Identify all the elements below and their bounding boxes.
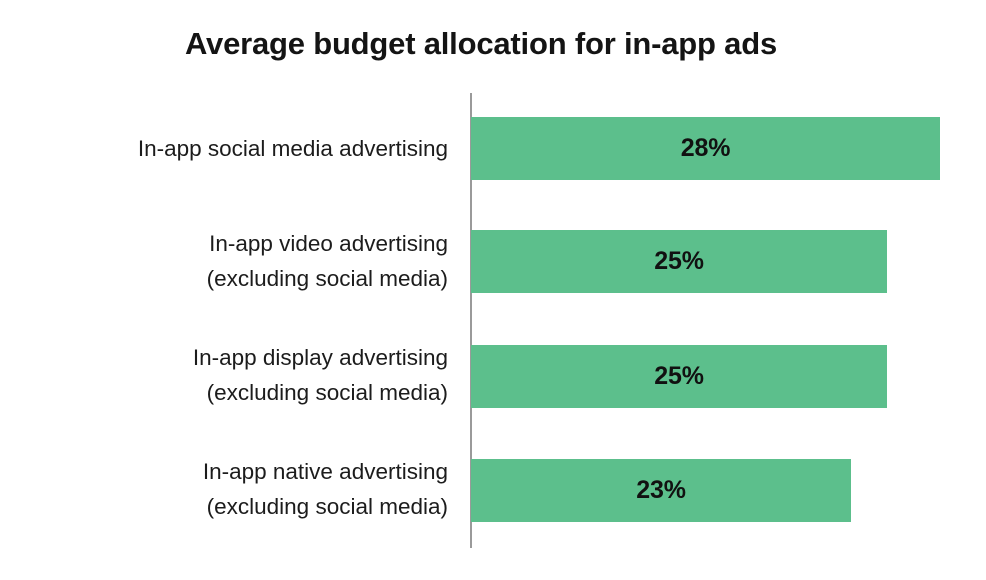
bar: 25%: [471, 230, 887, 293]
plot-area: In-app social media advertising 28% In-a…: [0, 0, 986, 580]
category-label: In-app video advertising (excluding soci…: [207, 226, 448, 296]
category-label-line2: (excluding social media): [203, 489, 448, 524]
bar: 23%: [471, 459, 851, 522]
category-label-line2: (excluding social media): [207, 261, 448, 296]
bar-value-label: 25%: [471, 345, 887, 408]
category-label: In-app social media advertising: [138, 131, 448, 166]
category-label: In-app native advertising (excluding soc…: [203, 454, 448, 524]
bar: 25%: [471, 345, 887, 408]
bar-value-label: 25%: [471, 230, 887, 293]
bar-value-label: 28%: [471, 117, 940, 180]
category-label-line1: In-app native advertising: [203, 459, 448, 484]
category-label-line1: In-app display advertising: [193, 345, 448, 370]
category-label-line1: In-app social media advertising: [138, 136, 448, 161]
bar: 28%: [471, 117, 940, 180]
category-label-line2: (excluding social media): [193, 375, 448, 410]
bar-chart: Average budget allocation for in-app ads…: [0, 0, 986, 580]
bar-value-label: 23%: [471, 459, 851, 522]
category-label-line1: In-app video advertising: [209, 231, 448, 256]
category-label: In-app display advertising (excluding so…: [193, 340, 448, 410]
